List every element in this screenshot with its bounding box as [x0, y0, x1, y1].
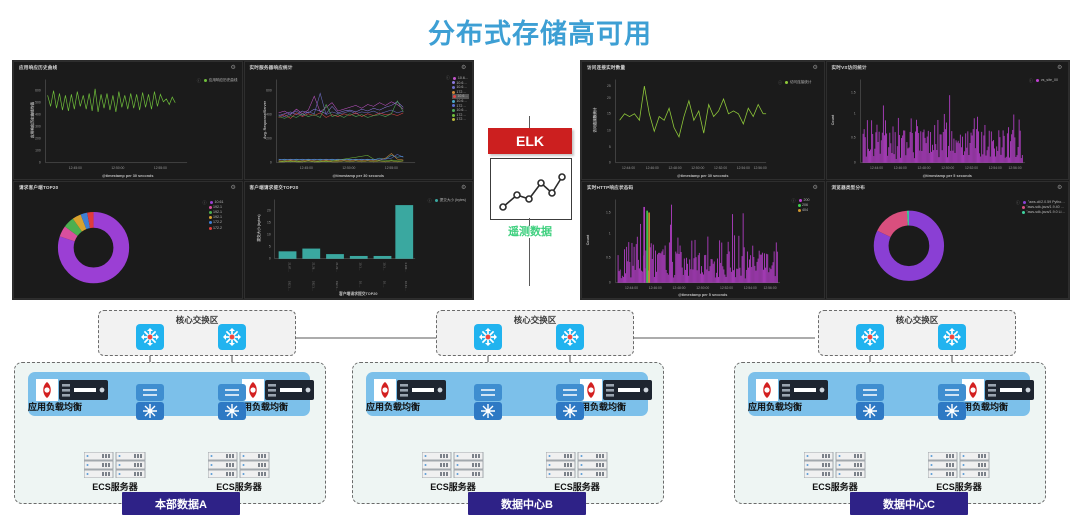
- switch-icon[interactable]: [218, 384, 246, 420]
- legend-label: 172.2: [213, 226, 222, 231]
- elk-uplink-line: [529, 116, 530, 128]
- switch-icon[interactable]: [938, 384, 966, 420]
- svg-text:12:54:00: 12:54:00: [988, 166, 1001, 170]
- svg-text:192.1…: 192.1…: [287, 280, 291, 290]
- svg-text:0: 0: [609, 280, 611, 284]
- legend-swatch: [209, 211, 212, 214]
- svg-text:0: 0: [609, 161, 611, 165]
- info-icon[interactable]: ⓘ: [197, 78, 201, 83]
- gear-icon[interactable]: ⚙: [231, 65, 237, 71]
- gear-icon[interactable]: ⚙: [813, 65, 819, 71]
- chart-legend: ⓘ"aws-cli/2.0.59 Pytho… "aws-sdk-java/1.…: [1016, 200, 1065, 216]
- legend-item: 172.2: [209, 226, 224, 231]
- svg-text:12:48:00: 12:48:00: [672, 286, 685, 290]
- switch-icon[interactable]: [136, 384, 164, 420]
- switch-icon[interactable]: [474, 384, 502, 420]
- switch-icon[interactable]: [136, 324, 164, 350]
- svg-text:12:56:00: 12:56:00: [754, 166, 767, 170]
- svg-text:10.1…: 10.1…: [358, 262, 362, 270]
- x-axis-label: @timestamp per 5 seconds: [582, 293, 824, 297]
- svg-text:12:44:00: 12:44:00: [622, 166, 635, 170]
- legend-swatch: [452, 109, 455, 112]
- chart-legend: ⓘvs_site_00: [1029, 78, 1058, 83]
- elk-header[interactable]: ELK: [488, 128, 572, 154]
- svg-text:12:50:00: 12:50:00: [691, 166, 704, 170]
- legend-swatch: [452, 104, 455, 107]
- server-rack-icon[interactable]: [84, 452, 146, 478]
- legend-item: ⓘ访问连接统计: [778, 80, 812, 85]
- svg-text:12:44:00: 12:44:00: [625, 286, 638, 290]
- svg-text:1: 1: [853, 112, 855, 116]
- elk-block: ELK 遥测数据: [484, 128, 576, 260]
- core-zone-title: 核心交换区: [819, 314, 1015, 326]
- svg-text:21.26…: 21.26…: [311, 262, 315, 272]
- chart-area: 0 5 10 15 20 25 12:44:00 12:46:00 12:48:…: [582, 74, 824, 179]
- y-axis-label: 应用响应历史曲线均值: [30, 102, 35, 138]
- svg-text:12:50:00: 12:50:00: [941, 166, 954, 170]
- legend-swatch: [799, 199, 802, 202]
- panel-title: 实时HTTP响应状态码: [587, 185, 633, 191]
- y-axis-label: Avg. Response/Server: [263, 101, 267, 139]
- x-axis-label: 客户端请求提交TOP20: [245, 292, 473, 297]
- gear-icon[interactable]: ⚙: [1057, 65, 1063, 71]
- svg-text:12:50:00: 12:50:00: [342, 166, 355, 170]
- legend-swatch: [1023, 201, 1026, 204]
- panel-realtime-vs-access[interactable]: 实时VS访问统计 ⚙ 0 0.5 1 1.5 12:44:00 12:46:00…: [826, 61, 1070, 180]
- panel-request-clients-top20[interactable]: 请求客户端TOP20 ⚙ ⓘ10.61 192.1 192.1 192.1 17…: [13, 181, 243, 300]
- panel-browser-type-distribution[interactable]: 浏览器类型分布 ⚙ ⓘ"aws-cli/2.0.59 Pytho… "aws-s…: [826, 181, 1070, 300]
- chart-area: 0 0.5 1 1.5 12:44:00 12:46:00 12:48:00 1…: [582, 194, 824, 299]
- legend-label: "aws-sdk-java/1.9.0 Li…: [1026, 210, 1065, 215]
- svg-text:400: 400: [35, 113, 41, 117]
- server-rack-icon[interactable]: [804, 452, 866, 478]
- svg-text:0: 0: [268, 256, 270, 260]
- legend-swatch: [452, 91, 455, 94]
- x-axis-label: @timestamp per 5 seconds: [827, 174, 1069, 178]
- legend-swatch: [453, 95, 456, 98]
- chart-legend: ⓘ访问连接统计: [778, 80, 812, 85]
- svg-text:3.330…: 3.330…: [404, 262, 408, 272]
- x-axis-label: @timestamp per 30 seconds: [14, 174, 242, 178]
- dashboard-left: 应用响应历史曲线 ⚙ 0 100 200 300 400 500 600 12:…: [12, 60, 474, 300]
- dashboard-right: 访问连接实时数量 ⚙ 0 5 10 15 20 25 12:44:00 12:4…: [580, 60, 1070, 300]
- switch-icon[interactable]: [856, 384, 884, 420]
- panel-title: 客户端请求提交TOP20: [250, 185, 299, 191]
- svg-text:5: 5: [609, 145, 611, 149]
- load-balancer-icon[interactable]: [374, 378, 446, 402]
- svg-text:12:56:00: 12:56:00: [1008, 166, 1021, 170]
- svg-text:5: 5: [268, 244, 270, 248]
- legend-item: ⓘ 应用响应历史曲线: [197, 78, 238, 83]
- info-icon[interactable]: ⓘ: [778, 80, 782, 85]
- svg-text:0: 0: [39, 161, 41, 165]
- server-rack-icon[interactable]: [208, 452, 270, 478]
- legend-swatch: [453, 77, 456, 80]
- svg-text:10: 10: [607, 128, 611, 132]
- panel-title: 访问连接实时数量: [587, 65, 625, 71]
- svg-text:200: 200: [35, 137, 41, 141]
- legend-swatch: [210, 201, 213, 204]
- svg-text:12:52:00: 12:52:00: [720, 286, 733, 290]
- legend-label: 提交大小 (bytes): [440, 198, 466, 203]
- panel-title: 实时服务器响应统计: [250, 65, 293, 71]
- legend-label: vs_site_00: [1041, 78, 1058, 83]
- svg-text:12:45:00: 12:45:00: [299, 166, 312, 170]
- info-icon[interactable]: ⓘ: [203, 200, 207, 205]
- load-balancer-icon[interactable]: [756, 378, 828, 402]
- switch-icon[interactable]: [218, 324, 246, 350]
- legend-swatch: [452, 100, 455, 103]
- legend-swatch: [452, 81, 455, 84]
- legend-swatch: [1036, 79, 1039, 82]
- svg-text:12:50:00: 12:50:00: [111, 166, 124, 170]
- svg-text:15: 15: [266, 220, 270, 224]
- legend-item: 404: [798, 208, 810, 213]
- svg-text:600: 600: [266, 89, 272, 93]
- info-icon[interactable]: ⓘ: [1029, 78, 1033, 83]
- svg-text:12:44:00: 12:44:00: [869, 166, 882, 170]
- gear-icon[interactable]: ⚙: [813, 185, 819, 191]
- svg-text:10.61…: 10.61…: [404, 280, 408, 290]
- legend-swatch: [452, 118, 455, 121]
- legend-label: 访问连接统计: [790, 80, 812, 85]
- svg-text:15: 15: [607, 112, 611, 116]
- line-chart-icon: [490, 158, 572, 220]
- legend-swatch: [1022, 211, 1025, 214]
- server-rack-icon[interactable]: [422, 452, 484, 478]
- core-zone-title: 核心交换区: [437, 314, 633, 326]
- svg-text:12:46:00: 12:46:00: [893, 166, 906, 170]
- server-rack-icon[interactable]: [546, 452, 608, 478]
- svg-text:192.1…: 192.1…: [334, 280, 338, 290]
- panel-title: 请求客户端TOP20: [19, 185, 58, 191]
- svg-text:12:55:00: 12:55:00: [384, 166, 397, 170]
- svg-text:10.1…: 10.1…: [382, 262, 386, 270]
- svg-text:20: 20: [607, 96, 611, 100]
- legend-swatch: [435, 199, 438, 202]
- network-diagram: 核心交换区 核心交换区 核心交换区 应用负载均衡 应用负载均衡 ECS服务器 E…: [0, 300, 1080, 516]
- legend-label: 应用响应历史曲线: [209, 78, 238, 83]
- datacenter-badge-c: 数据中心C: [850, 492, 968, 515]
- svg-text:12:48:00: 12:48:00: [917, 166, 930, 170]
- svg-text:12:55:00: 12:55:00: [154, 166, 167, 170]
- switch-icon[interactable]: [474, 324, 502, 350]
- legend-swatch: [204, 79, 207, 82]
- y-axis-label: 访问连接数统计: [593, 108, 598, 133]
- server-rack-icon[interactable]: [928, 452, 990, 478]
- svg-text:12:50:00: 12:50:00: [696, 286, 709, 290]
- info-icon[interactable]: ⓘ: [1016, 200, 1020, 205]
- chart-legend: ⓘ10.61 192.1 192.1 192.1 172.2 172.2: [203, 200, 224, 231]
- legend-swatch: [452, 114, 455, 117]
- svg-text:1.5: 1.5: [851, 91, 856, 95]
- load-balancer-icon[interactable]: [242, 378, 314, 402]
- core-zone-b: 核心交换区: [436, 310, 634, 356]
- chart-legend: ⓘ 应用响应历史曲线: [197, 78, 238, 83]
- legend-item: ⓘvs_site_00: [1029, 78, 1058, 83]
- svg-text:1: 1: [609, 231, 611, 235]
- datacenter-badge-b: 数据中心B: [468, 492, 586, 515]
- info-icon[interactable]: ⓘ: [792, 198, 796, 203]
- core-zone-title: 核心交换区: [99, 314, 295, 326]
- legend-item: "aws-sdk-java/1.9.0 Li…: [1022, 210, 1065, 215]
- gear-icon[interactable]: ⚙: [461, 65, 467, 71]
- panel-app-response-history[interactable]: 应用响应历史曲线 ⚙ 0 100 200 300 400 500 600 12:…: [13, 61, 243, 180]
- svg-text:192.1…: 192.1…: [311, 280, 315, 290]
- x-axis-label: @timestamp per 30 seconds: [582, 174, 824, 178]
- switch-icon[interactable]: [556, 384, 584, 420]
- legend-swatch: [798, 209, 801, 212]
- svg-text:12:54:00: 12:54:00: [744, 286, 757, 290]
- chart-area: 0 200 400 600 12:45:00 12:50:00 12:55:00: [245, 74, 473, 179]
- svg-text:300: 300: [35, 125, 41, 129]
- panel-title: 实时VS访问统计: [832, 65, 867, 71]
- panel-active-connections[interactable]: 访问连接实时数量 ⚙ 0 5 10 15 20 25 12:44:00 12:4…: [581, 61, 825, 180]
- svg-text:10.…: 10.…: [382, 280, 386, 287]
- svg-text:12:56:00: 12:56:00: [764, 286, 777, 290]
- switch-icon[interactable]: [556, 324, 584, 350]
- svg-text:100: 100: [35, 149, 41, 153]
- gear-icon[interactable]: ⚙: [231, 185, 237, 191]
- panel-client-submit-top20[interactable]: 客户端请求提交TOP20 ⚙ 0 5 10 15 20: [244, 181, 474, 300]
- svg-text:0.5: 0.5: [851, 136, 856, 140]
- elk-downlink-line: [529, 238, 530, 286]
- y-axis-label: Count: [831, 115, 835, 125]
- info-icon[interactable]: ⓘ: [428, 198, 432, 203]
- svg-text:20: 20: [266, 208, 270, 212]
- lb-label-left-b: 应用负载均衡: [366, 400, 420, 413]
- info-icon[interactable]: ⓘ: [446, 76, 450, 81]
- legend-swatch: [452, 86, 455, 89]
- legend-swatch: [209, 216, 212, 219]
- svg-text:12:45:00: 12:45:00: [69, 166, 82, 170]
- svg-text:12:54:00: 12:54:00: [737, 166, 750, 170]
- legend-label: 404: [802, 208, 808, 213]
- svg-text:12:52:00: 12:52:00: [964, 166, 977, 170]
- lb-label-left-c: 应用负载均衡: [748, 400, 802, 413]
- switch-icon[interactable]: [856, 324, 884, 350]
- legend-swatch: [1022, 206, 1025, 209]
- chart-area: 0 5 10 15 20 21.87… 21.26… 2: [245, 194, 473, 299]
- svg-text:0.5: 0.5: [606, 255, 611, 259]
- panel-title: 应用响应历史曲线: [19, 65, 57, 71]
- chart-legend: ⓘ提交大小 (bytes): [428, 198, 466, 203]
- svg-text:0: 0: [853, 161, 855, 165]
- svg-text:25: 25: [607, 84, 611, 88]
- gear-icon[interactable]: ⚙: [461, 185, 467, 191]
- x-axis-label: @timestamp per 30 seconds: [245, 174, 473, 178]
- chart-legend: ⓘ200 206 404: [792, 198, 810, 214]
- chart-area: 0 100 200 300 400 500 600 12:45:00 12:50…: [14, 74, 242, 179]
- svg-text:12:52:00: 12:52:00: [714, 166, 727, 170]
- legend-swatch: [209, 221, 212, 224]
- lb-label-left-a: 应用负载均衡: [28, 400, 82, 413]
- svg-text:12:48:00: 12:48:00: [668, 166, 681, 170]
- legend-swatch: [785, 81, 788, 84]
- svg-text:0: 0: [269, 161, 271, 165]
- panel-realtime-server-response[interactable]: 实时服务器响应统计 ⚙ 0 200 400 600 12:45:00 12:50…: [244, 61, 474, 180]
- load-balancer-icon[interactable]: [580, 378, 652, 402]
- load-balancer-icon[interactable]: [962, 378, 1034, 402]
- legend-swatch: [798, 204, 801, 207]
- panel-http-status-codes[interactable]: 实时HTTP响应状态码 ⚙ 0 0.5 1 1.5 12:44:00 12:46…: [581, 181, 825, 300]
- svg-text:1.5: 1.5: [606, 210, 611, 214]
- svg-text:21.22…: 21.22…: [334, 262, 338, 272]
- gear-icon[interactable]: ⚙: [1057, 185, 1063, 191]
- telemetry-label: 遥测数据: [484, 223, 576, 239]
- switch-icon[interactable]: [938, 324, 966, 350]
- legend-swatch: [209, 227, 212, 230]
- y-axis-label: 提交大小 (bytes): [257, 215, 262, 242]
- core-zone-c: 核心交换区: [818, 310, 1016, 356]
- svg-text:21.87…: 21.87…: [287, 262, 291, 272]
- svg-text:600: 600: [35, 89, 41, 93]
- page-title: 分布式存储高可用: [0, 12, 1080, 51]
- svg-text:12:46:00: 12:46:00: [646, 166, 659, 170]
- svg-text:10: 10: [266, 232, 270, 236]
- svg-text:500: 500: [35, 101, 41, 105]
- chart-legend: ⓘ10.6… 10.6… 10.6… 172… 10.6… 10.6… 172……: [446, 76, 469, 122]
- y-axis-label: Count: [586, 235, 590, 245]
- legend-item: ⓘ提交大小 (bytes): [428, 198, 466, 203]
- legend-item: 172…: [452, 117, 469, 122]
- core-zone-a: 核心交换区: [98, 310, 296, 356]
- legend-label: 172…: [456, 117, 466, 122]
- chart-area: 0 0.5 1 1.5 12:44:00 12:46:00 12:48:00 1…: [827, 74, 1069, 179]
- datacenter-badge-a: 本部数据A: [122, 492, 240, 515]
- svg-text:10.…: 10.…: [358, 280, 362, 287]
- load-balancer-icon[interactable]: [36, 378, 108, 402]
- panel-title: 浏览器类型分布: [832, 185, 866, 191]
- svg-text:12:46:00: 12:46:00: [649, 286, 662, 290]
- legend-swatch: [209, 206, 212, 209]
